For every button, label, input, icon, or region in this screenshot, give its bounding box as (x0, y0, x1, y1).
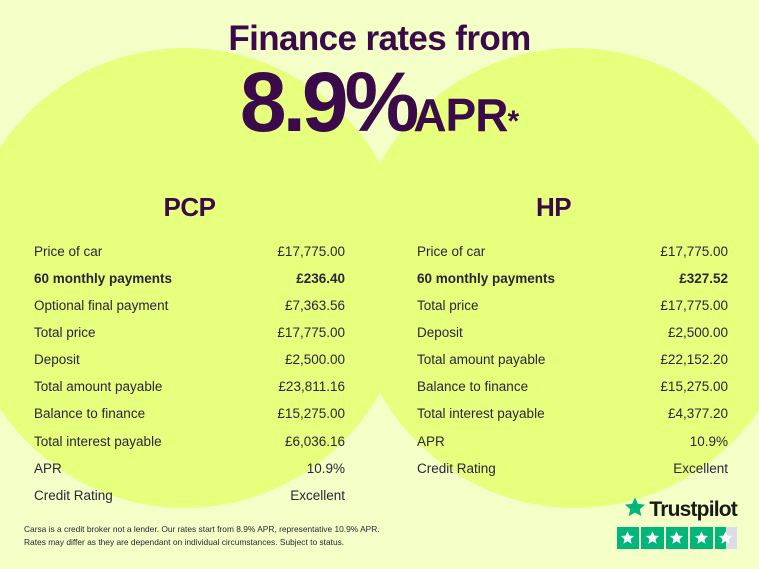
row-label: Balance to finance (34, 406, 145, 423)
table-row: Total amount payable £23,811.16 (34, 374, 345, 401)
rating-star-icon (617, 527, 640, 550)
table-row: Total amount payable £22,152.20 (417, 347, 728, 374)
row-label: Total interest payable (34, 434, 162, 451)
pcp-rows: Price of car £17,775.00 60 monthly payme… (34, 239, 345, 510)
table-row: APR 10.9% (417, 428, 728, 455)
row-label: Total interest payable (417, 406, 545, 423)
row-label: Price of car (417, 244, 485, 261)
table-row: Credit Rating Excellent (34, 483, 345, 510)
finance-tables: PCP Price of car £17,775.00 60 monthly p… (0, 192, 759, 510)
disclaimer-text: Carsa is a credit broker not a lender. O… (24, 523, 444, 549)
trustpilot-wordmark: Trustpilot (612, 496, 737, 523)
row-value: £15,275.00 (277, 406, 345, 423)
table-row: Price of car £17,775.00 (417, 239, 728, 266)
row-value: Excellent (290, 488, 345, 505)
header-block: Finance rates from 8.9% APR * (0, 0, 759, 142)
row-value: £17,775.00 (277, 325, 345, 342)
disclaimer-line-2: Rates may differ as they are dependant o… (24, 536, 444, 549)
rate-display: 8.9% APR * (0, 63, 759, 143)
row-value: £236.40 (296, 271, 345, 288)
rate-unit: APR (413, 92, 507, 138)
row-value: 10.9% (307, 461, 345, 478)
row-label: Deposit (417, 325, 463, 342)
table-row: Total interest payable £6,036.16 (34, 428, 345, 455)
trustpilot-star-icon (624, 496, 646, 523)
row-label: Deposit (34, 352, 80, 369)
table-row: Price of car £17,775.00 (34, 239, 345, 266)
trustpilot-badge[interactable]: Trustpilot (612, 496, 737, 550)
row-value: £327.52 (679, 271, 728, 288)
row-label: Optional final payment (34, 298, 168, 315)
table-row: Total price £17,775.00 (34, 320, 345, 347)
table-row: Total price £17,775.00 (417, 293, 728, 320)
row-value: £4,377.20 (668, 406, 728, 423)
row-value: £6,036.16 (285, 434, 345, 451)
row-value: £17,775.00 (660, 298, 728, 315)
table-title-pcp: PCP (34, 192, 345, 223)
table-title-hp: HP (417, 192, 728, 223)
table-row: APR 10.9% (34, 456, 345, 483)
row-label: 60 monthly payments (34, 271, 172, 288)
row-value: £23,811.16 (278, 379, 345, 396)
row-value: 10.9% (690, 434, 728, 451)
table-row: 60 monthly payments £236.40 (34, 266, 345, 293)
table-row: Balance to finance £15,275.00 (417, 374, 728, 401)
asterisk-marker: * (507, 107, 519, 137)
promo-graphic: Finance rates from 8.9% APR * PCP Price … (0, 0, 759, 569)
table-row: Optional final payment £7,363.56 (34, 293, 345, 320)
row-label: Credit Rating (417, 461, 496, 478)
rate-value: 8.9% (240, 63, 415, 143)
table-row: 60 monthly payments £327.52 (417, 266, 728, 293)
rating-star-half-icon (715, 527, 738, 550)
hp-rows: Price of car £17,775.00 60 monthly payme… (417, 239, 728, 483)
row-label: Total amount payable (34, 379, 162, 396)
table-row: Balance to finance £15,275.00 (34, 401, 345, 428)
rating-star-icon (666, 527, 689, 550)
row-label: Total price (417, 298, 479, 315)
trustpilot-label: Trustpilot (649, 499, 737, 520)
finance-table-pcp: PCP Price of car £17,775.00 60 monthly p… (0, 192, 379, 510)
row-value: £2,500.00 (668, 325, 728, 342)
row-label: APR (417, 434, 445, 451)
row-value: £22,152.20 (660, 352, 728, 369)
row-value: £2,500.00 (285, 352, 345, 369)
table-row: Deposit £2,500.00 (34, 347, 345, 374)
disclaimer-line-1: Carsa is a credit broker not a lender. O… (24, 523, 444, 536)
row-label: Total price (34, 325, 96, 342)
trustpilot-rating-stars (612, 527, 737, 550)
rating-star-icon (690, 527, 713, 550)
row-label: 60 monthly payments (417, 271, 555, 288)
table-row: Deposit £2,500.00 (417, 320, 728, 347)
row-label: Price of car (34, 244, 102, 261)
row-value: £17,775.00 (277, 244, 345, 261)
rating-star-icon (641, 527, 664, 550)
row-label: Total amount payable (417, 352, 545, 369)
row-value: £17,775.00 (660, 244, 728, 261)
page-title: Finance rates from (0, 20, 759, 59)
row-label: APR (34, 461, 62, 478)
row-value: Excellent (673, 461, 728, 478)
table-row: Credit Rating Excellent (417, 456, 728, 483)
row-label: Balance to finance (417, 379, 528, 396)
finance-table-hp: HP Price of car £17,775.00 60 monthly pa… (379, 192, 758, 510)
table-row: Total interest payable £4,377.20 (417, 401, 728, 428)
row-value: £7,363.56 (285, 298, 345, 315)
row-label: Credit Rating (34, 488, 113, 505)
row-value: £15,275.00 (660, 379, 728, 396)
